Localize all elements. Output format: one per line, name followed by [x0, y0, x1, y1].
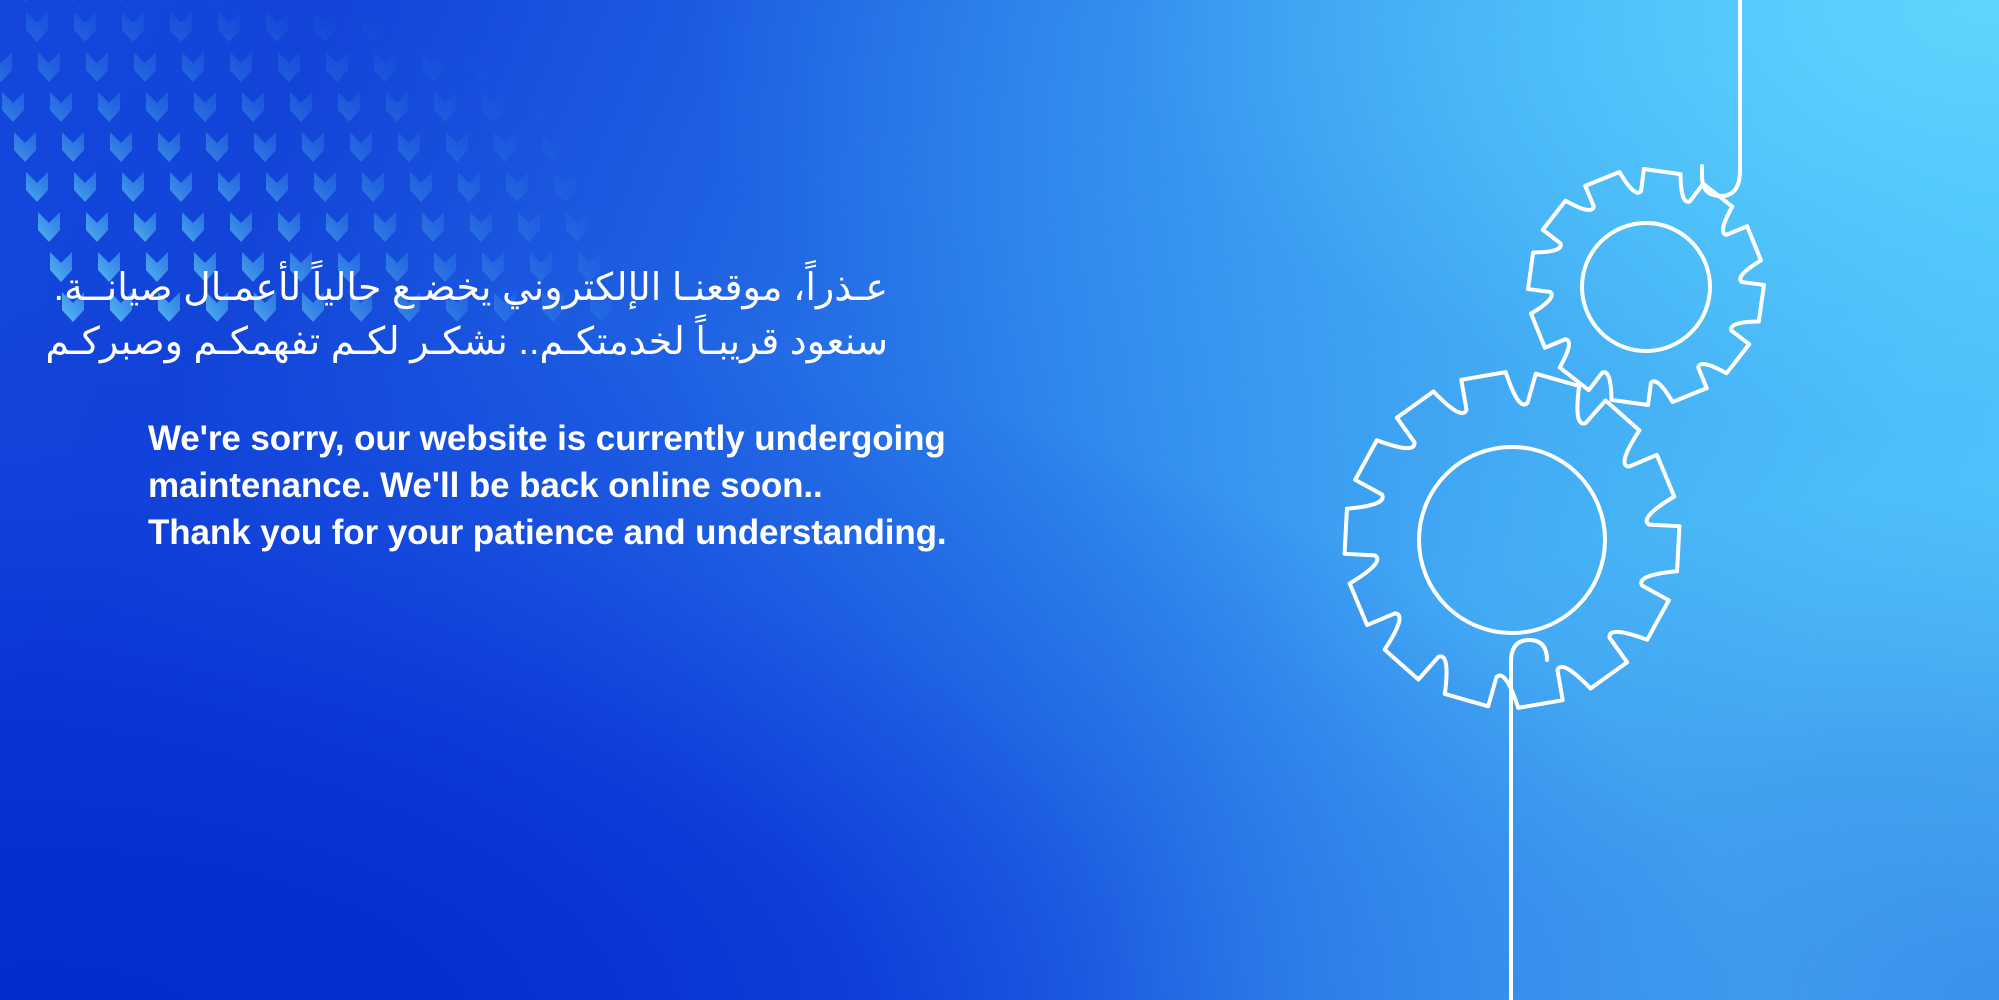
english-line-3: Thank you for your patience and understa…: [148, 510, 1148, 557]
arabic-line-1: عـذراً، موقعنـا الإلكتروني يخضـع حالياً …: [148, 262, 888, 316]
english-line-1: We're sorry, our website is currently un…: [148, 416, 1148, 463]
arabic-line-2: سنعود قريبـاً لخدمتكـم.. نشكـر لكـم تفهم…: [148, 316, 888, 370]
maintenance-page: عـذراً، موقعنـا الإلكتروني يخضـع حالياً …: [0, 0, 1999, 1000]
arabic-message: عـذراً، موقعنـا الإلكتروني يخضـع حالياً …: [148, 262, 888, 370]
maintenance-message: عـذراً، موقعنـا الإلكتروني يخضـع حالياً …: [148, 262, 1148, 557]
english-message: We're sorry, our website is currently un…: [148, 416, 1148, 557]
english-line-2: maintenance. We'll be back online soon..: [148, 463, 1148, 510]
